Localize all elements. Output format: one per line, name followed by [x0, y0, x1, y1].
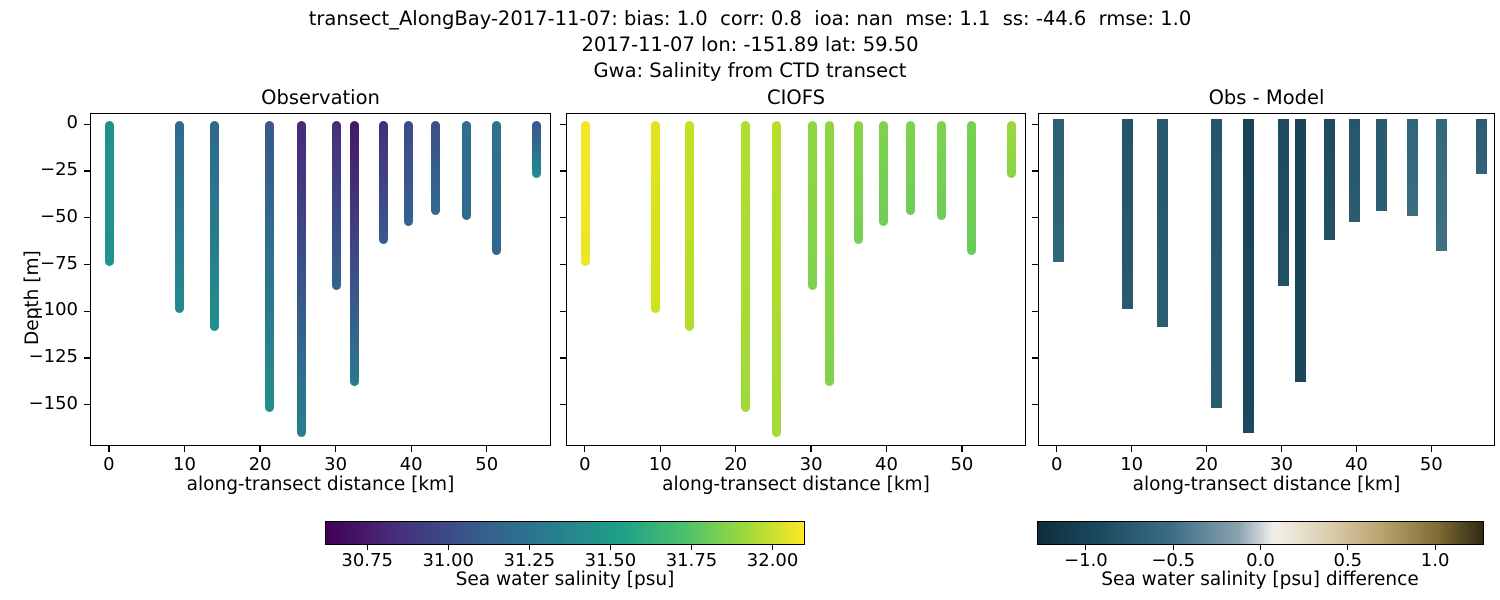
station-profile-bar [1436, 119, 1447, 251]
x-axis-tick [961, 446, 962, 452]
station-profile-bar [825, 121, 834, 386]
figure-suptitle: transect_AlongBay-2017-11-07: bias: 1.0 … [0, 6, 1500, 84]
colorbar-tick-label: −0.5 [1128, 550, 1218, 571]
colorbar-salinity-difference[interactable] [1037, 521, 1484, 545]
y-axis-ciofs [551, 113, 566, 446]
colorbar-salinity-ticks: 30.7531.0031.2531.5031.7532.00 [325, 545, 805, 571]
station-profile-bar [967, 121, 976, 255]
colorbar-tick-label: 31.50 [565, 550, 655, 571]
station-profile-bar [1376, 119, 1387, 211]
station-profile-bar [1157, 119, 1168, 327]
y-axis-tick-label: −150 [8, 393, 78, 414]
y-axis-tick [84, 311, 90, 312]
x-axis-tick [486, 446, 487, 452]
y-axis-tick-label: −100 [8, 299, 78, 320]
y-axis-tick [84, 264, 90, 265]
y-axis-tick [84, 217, 90, 218]
y-axis-obs-minus-model [1023, 113, 1038, 446]
colorbar-tick-label: 0.5 [1303, 550, 1393, 571]
plot-area-ciofs [567, 114, 1025, 445]
x-axis-tick-label: 30 [306, 454, 366, 475]
colorbar-tick-label: 0.0 [1216, 550, 1306, 571]
y-axis-tick [84, 357, 90, 358]
x-axis-tick [335, 446, 336, 452]
y-axis-tick [1032, 217, 1038, 218]
station-profile-bar [404, 121, 413, 226]
colorbar-salinity-difference-label: Sea water salinity [psu] difference [1000, 569, 1500, 590]
x-axis-tick-label: 10 [630, 454, 690, 475]
x-axis-tick-label: 20 [230, 454, 290, 475]
x-axis-tick [108, 446, 109, 452]
station-profile-bar [532, 121, 541, 178]
station-profile-bar [1007, 121, 1016, 178]
station-profile-bar [1407, 119, 1418, 216]
station-profile-bar [1122, 119, 1133, 309]
x-axis-tick [184, 446, 185, 452]
y-axis-tick [560, 217, 566, 218]
x-axis-tick [886, 446, 887, 452]
station-profile-bar [1053, 119, 1064, 262]
station-profile-bar [937, 121, 946, 220]
y-axis-tick-label: −125 [8, 346, 78, 367]
panel-observation[interactable] [90, 113, 551, 446]
x-axis-tick [584, 446, 585, 452]
station-profile-bar [332, 121, 341, 290]
y-axis-observation: 0−25−50−75−100−125−150 [0, 113, 90, 446]
station-profile-bar [210, 121, 219, 331]
station-profile-bar [1211, 119, 1222, 408]
colorbar-tick-label: 1.0 [1390, 550, 1480, 571]
x-axis-tick-label: 30 [781, 454, 841, 475]
suptitle-line-1: transect_AlongBay-2017-11-07: bias: 1.0 … [0, 6, 1500, 32]
panel-title-ciofs: CIOFS [566, 86, 1026, 109]
y-axis-tick [1032, 264, 1038, 265]
y-axis-tick [84, 404, 90, 405]
station-profile-bar [1295, 119, 1306, 382]
station-profile-bar [175, 121, 184, 313]
x-axis-tick-label: 30 [1251, 454, 1311, 475]
y-axis-tick-label: −50 [8, 206, 78, 227]
x-axis-tick [411, 446, 412, 452]
y-axis-tick-label: −25 [8, 159, 78, 180]
x-axis-tick-label: 20 [1177, 454, 1237, 475]
x-axis-tick-label: 0 [1027, 454, 1087, 475]
x-axis-tick-label: 10 [154, 454, 214, 475]
x-axis-tick [735, 446, 736, 452]
colorbar-tick-label: 32.00 [728, 550, 818, 571]
station-profile-bar [808, 121, 817, 290]
x-axis-tick-label: 50 [1401, 454, 1461, 475]
y-axis-tick [1032, 170, 1038, 171]
station-profile-bar [1349, 119, 1360, 222]
colorbar-tick-label: 31.25 [484, 550, 574, 571]
panel-obs-minus-model[interactable] [1038, 113, 1495, 446]
x-axis-tick-label: 50 [457, 454, 517, 475]
x-axis-tick-label: 10 [1102, 454, 1162, 475]
colorbar-tick-label: −1.0 [1041, 550, 1131, 571]
station-profile-bar [1243, 119, 1254, 433]
y-axis-tick [84, 124, 90, 125]
panel-title-obs-minus-model: Obs - Model [1038, 86, 1495, 109]
colorbar-salinity-difference-ticks: −1.0−0.50.00.51.0 [1037, 545, 1484, 571]
colorbar-tick-label: 31.75 [646, 550, 736, 571]
station-profile-bar [1278, 119, 1289, 286]
x-axis-tick-label: 20 [706, 454, 766, 475]
station-profile-bar [1324, 119, 1335, 240]
y-axis-tick [560, 311, 566, 312]
station-profile-bar [350, 121, 359, 386]
station-profile-bar [462, 121, 471, 220]
x-axis-tick-label: 0 [555, 454, 615, 475]
x-axis-label-ciofs: along-transect distance [km] [566, 474, 1026, 495]
colorbar-tick-label: 31.00 [403, 550, 493, 571]
x-axis-tick-label: 40 [856, 454, 916, 475]
y-axis-tick [84, 170, 90, 171]
y-axis-tick [560, 170, 566, 171]
y-axis-tick [1032, 124, 1038, 125]
station-profile-bar [431, 121, 440, 215]
x-axis-tick [1281, 446, 1282, 452]
x-axis-tick [660, 446, 661, 452]
station-profile-bar [685, 121, 694, 331]
station-profile-bar [265, 121, 274, 412]
x-axis-tick-label: 40 [381, 454, 441, 475]
station-profile-bar [906, 121, 915, 215]
x-axis-tick-label: 40 [1326, 454, 1386, 475]
suptitle-line-2: 2017-11-07 lon: -151.89 lat: 59.50 [0, 32, 1500, 58]
station-profile-bar [854, 121, 863, 244]
y-axis-tick-label: −75 [8, 253, 78, 274]
y-axis-tick [1032, 404, 1038, 405]
y-axis-tick [560, 264, 566, 265]
x-axis-tick-label: 0 [79, 454, 139, 475]
station-profile-bar [492, 121, 501, 255]
y-axis-tick-label: 0 [8, 112, 78, 133]
station-profile-bar [297, 121, 306, 437]
station-profile-bar [379, 121, 388, 244]
colorbar-tick-label: 30.75 [322, 550, 412, 571]
station-profile-bar [772, 121, 781, 437]
station-profile-bar [879, 121, 888, 226]
x-axis-tick [810, 446, 811, 452]
x-axis-label-observation: along-transect distance [km] [90, 474, 551, 495]
y-axis-tick [1032, 357, 1038, 358]
x-axis-tick [259, 446, 260, 452]
colorbar-salinity-label: Sea water salinity [psu] [285, 569, 845, 590]
station-profile-bar [741, 121, 750, 412]
y-axis-tick [560, 404, 566, 405]
panel-ciofs[interactable] [566, 113, 1026, 446]
x-axis-label-obs-minus-model: along-transect distance [km] [1038, 474, 1495, 495]
y-axis-tick [560, 124, 566, 125]
x-axis-tick [1356, 446, 1357, 452]
x-axis-tick [1431, 446, 1432, 452]
x-axis-tick-label: 50 [932, 454, 992, 475]
colorbar-salinity[interactable] [325, 521, 805, 545]
x-axis-tick [1131, 446, 1132, 452]
station-profile-bar [105, 121, 114, 266]
station-profile-bar [651, 121, 660, 313]
x-axis-tick [1056, 446, 1057, 452]
x-axis-tick [1206, 446, 1207, 452]
plot-area-observation [91, 114, 550, 445]
plot-area-obs-minus-model [1039, 114, 1494, 445]
station-profile-bar [581, 121, 590, 266]
figure-root: transect_AlongBay-2017-11-07: bias: 1.0 … [0, 0, 1500, 600]
station-profile-bar [1476, 119, 1487, 174]
suptitle-line-3: Gwa: Salinity from CTD transect [0, 58, 1500, 84]
panel-title-observation: Observation [90, 86, 551, 109]
y-axis-tick [1032, 311, 1038, 312]
y-axis-tick [560, 357, 566, 358]
